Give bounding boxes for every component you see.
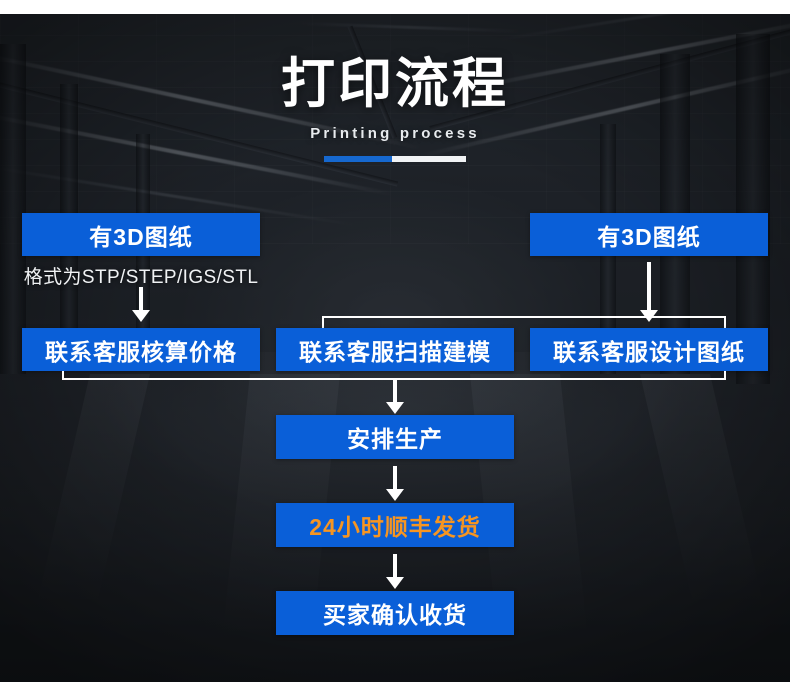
arrow-shaft: [393, 466, 397, 490]
bottom-white-band: [0, 682, 790, 696]
page-subtitle: Printing process: [0, 125, 790, 142]
flow-box-24h-sf-express-shipping[interactable]: 24小时顺丰发货: [276, 503, 514, 547]
arrow-shaft: [139, 287, 143, 311]
arrow-down-to-confirm-receipt: [385, 554, 405, 589]
title-underline: [324, 156, 466, 162]
arrow-head: [386, 489, 404, 501]
arrow-down-left-column: [131, 287, 151, 322]
flow-box-contact-service-design-drawing[interactable]: 联系客服设计图纸: [530, 328, 768, 371]
flow-box-arrange-production[interactable]: 安排生产: [276, 415, 514, 459]
arrow-down-to-production: [385, 379, 405, 414]
arrow-head: [386, 402, 404, 414]
top-white-band: [0, 0, 790, 14]
title-underline-white-segment: [392, 156, 466, 162]
flow-box-buyer-confirm-receipt[interactable]: 买家确认收货: [276, 591, 514, 635]
header: 打印流程 Printing process: [0, 56, 790, 162]
arrow-head: [386, 577, 404, 589]
arrow-down-right-column: [639, 262, 659, 322]
arrow-head: [132, 310, 150, 322]
flow-box-contact-service-quote[interactable]: 联系客服核算价格: [22, 328, 260, 371]
arrow-down-to-shipping: [385, 466, 405, 501]
poster-stage: 打印流程 Printing process 有3D图纸 有3D图纸 格式为STP…: [0, 0, 790, 696]
title-underline-blue-segment: [324, 156, 392, 162]
arrow-shaft: [393, 379, 397, 403]
bracket-top-horizontal: [322, 316, 726, 318]
flow-box-contact-service-scan-model[interactable]: 联系客服扫描建模: [276, 328, 514, 371]
flow-box-have-3d-drawing-left[interactable]: 有3D图纸: [22, 213, 260, 256]
arrow-shaft: [393, 554, 397, 578]
flow-box-have-3d-drawing-right[interactable]: 有3D图纸: [530, 213, 768, 256]
page-title: 打印流程: [0, 56, 790, 113]
bracket-bottom-right-tick: [724, 371, 726, 380]
bracket-bottom-left-tick: [62, 371, 64, 380]
arrow-shaft: [647, 262, 651, 310]
format-caption: 格式为STP/STEP/IGS/STL: [22, 262, 260, 289]
